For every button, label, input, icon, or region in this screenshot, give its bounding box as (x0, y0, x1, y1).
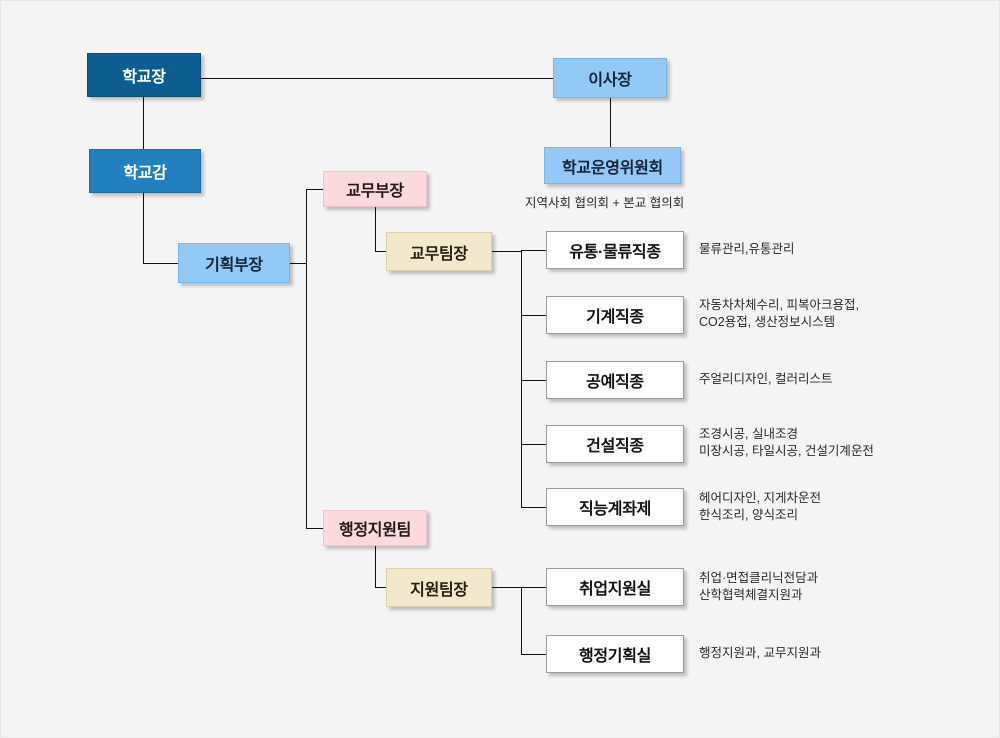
node-vice-principal[interactable]: 학교감 (89, 149, 201, 193)
edge-trunk-to-job-5 (521, 507, 546, 508)
node-employment-support-office[interactable]: 취업지원실 (546, 568, 684, 606)
node-school-operating-committee[interactable]: 학교운영위원회 (544, 147, 681, 184)
node-school-operating-committee-label: 학교운영위원회 (562, 154, 663, 178)
node-machinery-job-label: 기계직종 (586, 303, 644, 327)
org-chart-canvas: 학교장 이사장 학교감 학교운영위원회 지역사회 협의회 + 본교 협의회 기획… (0, 0, 1000, 738)
node-crafts-job[interactable]: 공예직종 (546, 361, 684, 399)
edge-support-mgr-stub (492, 587, 521, 588)
node-chairman-label: 이사장 (588, 66, 631, 90)
edge-trunk-to-job-6 (521, 587, 546, 588)
node-construction-job[interactable]: 건설직종 (546, 425, 684, 463)
note-employment-support-office: 취업·면접클리닉전담과 산학협력체결지원과 (699, 570, 818, 604)
note-crafts-job: 주얼리디자인, 컬러리스트 (699, 371, 832, 388)
node-crafts-job-label: 공예직종 (586, 368, 644, 392)
edge-trunk-to-job-2 (521, 315, 546, 316)
node-distribution-logistics-job-label: 유통·물류직종 (569, 238, 661, 262)
edge-planning-trunk (306, 189, 307, 529)
edge-support-mgr-trunk (521, 587, 522, 654)
node-academic-affairs-director-label: 교무부장 (346, 177, 404, 201)
node-planning-director[interactable]: 기획부장 (178, 243, 290, 283)
node-construction-job-label: 건설직종 (586, 432, 644, 456)
node-admin-support-team-label: 행정지원팀 (339, 516, 411, 540)
node-principal[interactable]: 학교장 (87, 53, 201, 97)
node-academic-affairs-director[interactable]: 교무부장 (323, 171, 427, 207)
node-vocational-account-system[interactable]: 직능계좌제 (546, 488, 684, 526)
edge-trunk-to-job-7 (521, 654, 546, 655)
node-admin-support-team[interactable]: 행정지원팀 (323, 510, 427, 546)
edge-trunk-to-job-4 (521, 444, 546, 445)
edge-admin-team-horizontal (375, 587, 386, 588)
note-admin-planning-office: 행정지원과, 교무지원과 (699, 645, 821, 662)
edge-admin-team-vertical (375, 546, 376, 588)
note-distribution-logistics-job: 물류관리,유통관리 (699, 241, 794, 258)
edge-academic-dir-vertical (375, 207, 376, 252)
node-support-team-manager[interactable]: 지원팀장 (386, 568, 492, 607)
edge-chairman-committee (610, 98, 611, 147)
note-vocational-account-system: 헤어디자인, 지게차운전 한식조리, 양식조리 (699, 490, 821, 524)
edge-vice-planning-vertical (143, 193, 144, 264)
edge-principal-vice (143, 97, 144, 149)
node-admin-planning-office-label: 행정기획실 (579, 642, 651, 666)
edge-planning-stub (290, 263, 306, 264)
edge-academic-mgr-stub (492, 251, 521, 252)
node-machinery-job[interactable]: 기계직종 (546, 296, 684, 334)
node-academic-affairs-manager-label: 교무팀장 (410, 240, 468, 264)
node-vice-principal-label: 학교감 (123, 159, 166, 183)
node-planning-director-label: 기획부장 (205, 251, 263, 275)
edge-trunk-to-job-1 (521, 250, 546, 251)
node-academic-affairs-manager[interactable]: 교무팀장 (386, 232, 492, 271)
edge-academic-dir-horizontal (375, 251, 386, 252)
node-admin-planning-office[interactable]: 행정기획실 (546, 635, 684, 673)
note-machinery-job: 자동차차체수리, 피복아크용접, CO2용접, 생산정보시스템 (699, 297, 859, 331)
edge-academic-mgr-trunk (521, 250, 522, 507)
edge-vice-planning-horizontal (143, 263, 178, 264)
note-construction-job: 조경시공, 실내조경 미장시공, 타일시공, 건설기계운전 (699, 426, 874, 460)
edge-trunk-to-admin-team (306, 528, 323, 529)
node-support-team-manager-label: 지원팀장 (410, 576, 468, 600)
node-employment-support-office-label: 취업지원실 (579, 575, 651, 599)
edge-trunk-to-job-3 (521, 380, 546, 381)
node-principal-label: 학교장 (122, 63, 165, 87)
node-distribution-logistics-job[interactable]: 유통·물류직종 (546, 231, 684, 269)
node-chairman[interactable]: 이사장 (553, 58, 667, 98)
caption-school-operating-committee: 지역사회 협의회 + 본교 협의회 (525, 192, 684, 211)
edge-principal-chairman (201, 78, 553, 79)
edge-trunk-to-academic-dir (306, 189, 323, 190)
node-vocational-account-system-label: 직능계좌제 (579, 495, 651, 519)
